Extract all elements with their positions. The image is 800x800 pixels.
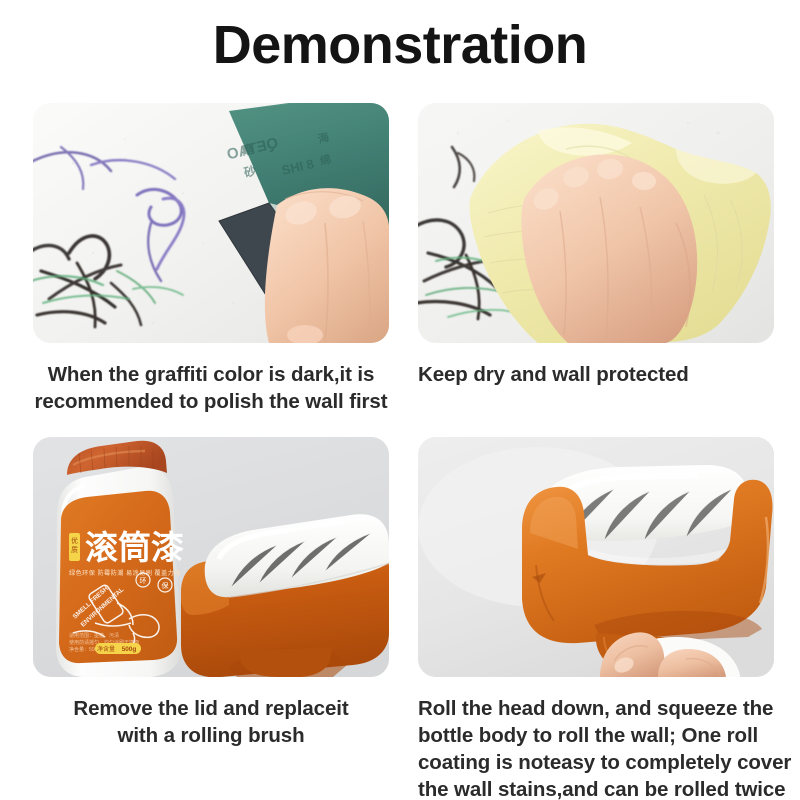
label-subtitle-text: 绿色环保 防霉防潮 易涂易刷 覆盖力强 xyxy=(69,569,181,577)
caption-line: Roll the head down, and squeeze the xyxy=(418,695,774,722)
caption-line: Remove the lid and replaceit xyxy=(33,695,389,722)
step-caption-2: Keep dry and wall protected xyxy=(418,361,774,388)
label-weight-badge-value: 500g xyxy=(122,646,137,653)
caption-line: bottle body to roll the wall; One roll xyxy=(418,722,774,749)
step-caption-1: When the graffiti color is dark,it is re… xyxy=(33,361,389,415)
step-caption-4: Roll the head down, and squeeze the bott… xyxy=(418,695,774,800)
caption-line: coating is noteasy to completely cover xyxy=(418,749,774,776)
label-icon-char: 保 xyxy=(162,581,169,590)
demonstration-page: Demonstration xyxy=(0,0,800,800)
label-brand-text: 滚筒漆 xyxy=(85,529,184,566)
step-card-4: Roll the head down, and squeeze the bott… xyxy=(418,437,774,800)
step-caption-3: Remove the lid and replaceit with a roll… xyxy=(33,695,389,749)
caption-line: Keep dry and wall protected xyxy=(418,361,774,388)
caption-line: the wall stains,and can be rolled twice xyxy=(418,776,774,800)
label-weight-badge-label: 净含量 xyxy=(97,645,115,653)
photo-paint-bottle-and-roller-head: 优 质 滚筒漆 绿色环保 防霉防潮 易涂易刷 覆盖力强 xyxy=(33,437,389,677)
photo-sanding-block-on-graffiti-wall: QETAO SHI 8 磨 砂 海 绵 xyxy=(33,103,389,343)
label-icon-char: 环 xyxy=(140,577,147,585)
caption-line: with a rolling brush xyxy=(33,722,389,749)
photo-wiping-wall-with-yellow-cloth xyxy=(418,103,774,343)
caption-line: recommended to polish the wall first xyxy=(33,388,389,415)
photo-rolling-head-down-on-wall xyxy=(418,437,774,677)
steps-grid: QETAO SHI 8 磨 砂 海 绵 xyxy=(0,95,800,800)
step-card-2: Keep dry and wall protected xyxy=(418,103,774,388)
caption-line: When the graffiti color is dark,it is xyxy=(33,361,389,388)
svg-text:适用范围：墨迹、污渍: 适用范围：墨迹、污渍 xyxy=(69,632,119,639)
label-side-tag-char: 优 xyxy=(71,536,78,545)
step-card-3: 优 质 滚筒漆 绿色环保 防霉防潮 易涂易刷 覆盖力强 xyxy=(33,437,389,749)
step-card-1: QETAO SHI 8 磨 砂 海 绵 xyxy=(33,103,389,415)
page-title: Demonstration xyxy=(0,14,800,76)
label-side-tag-char: 质 xyxy=(71,545,78,554)
